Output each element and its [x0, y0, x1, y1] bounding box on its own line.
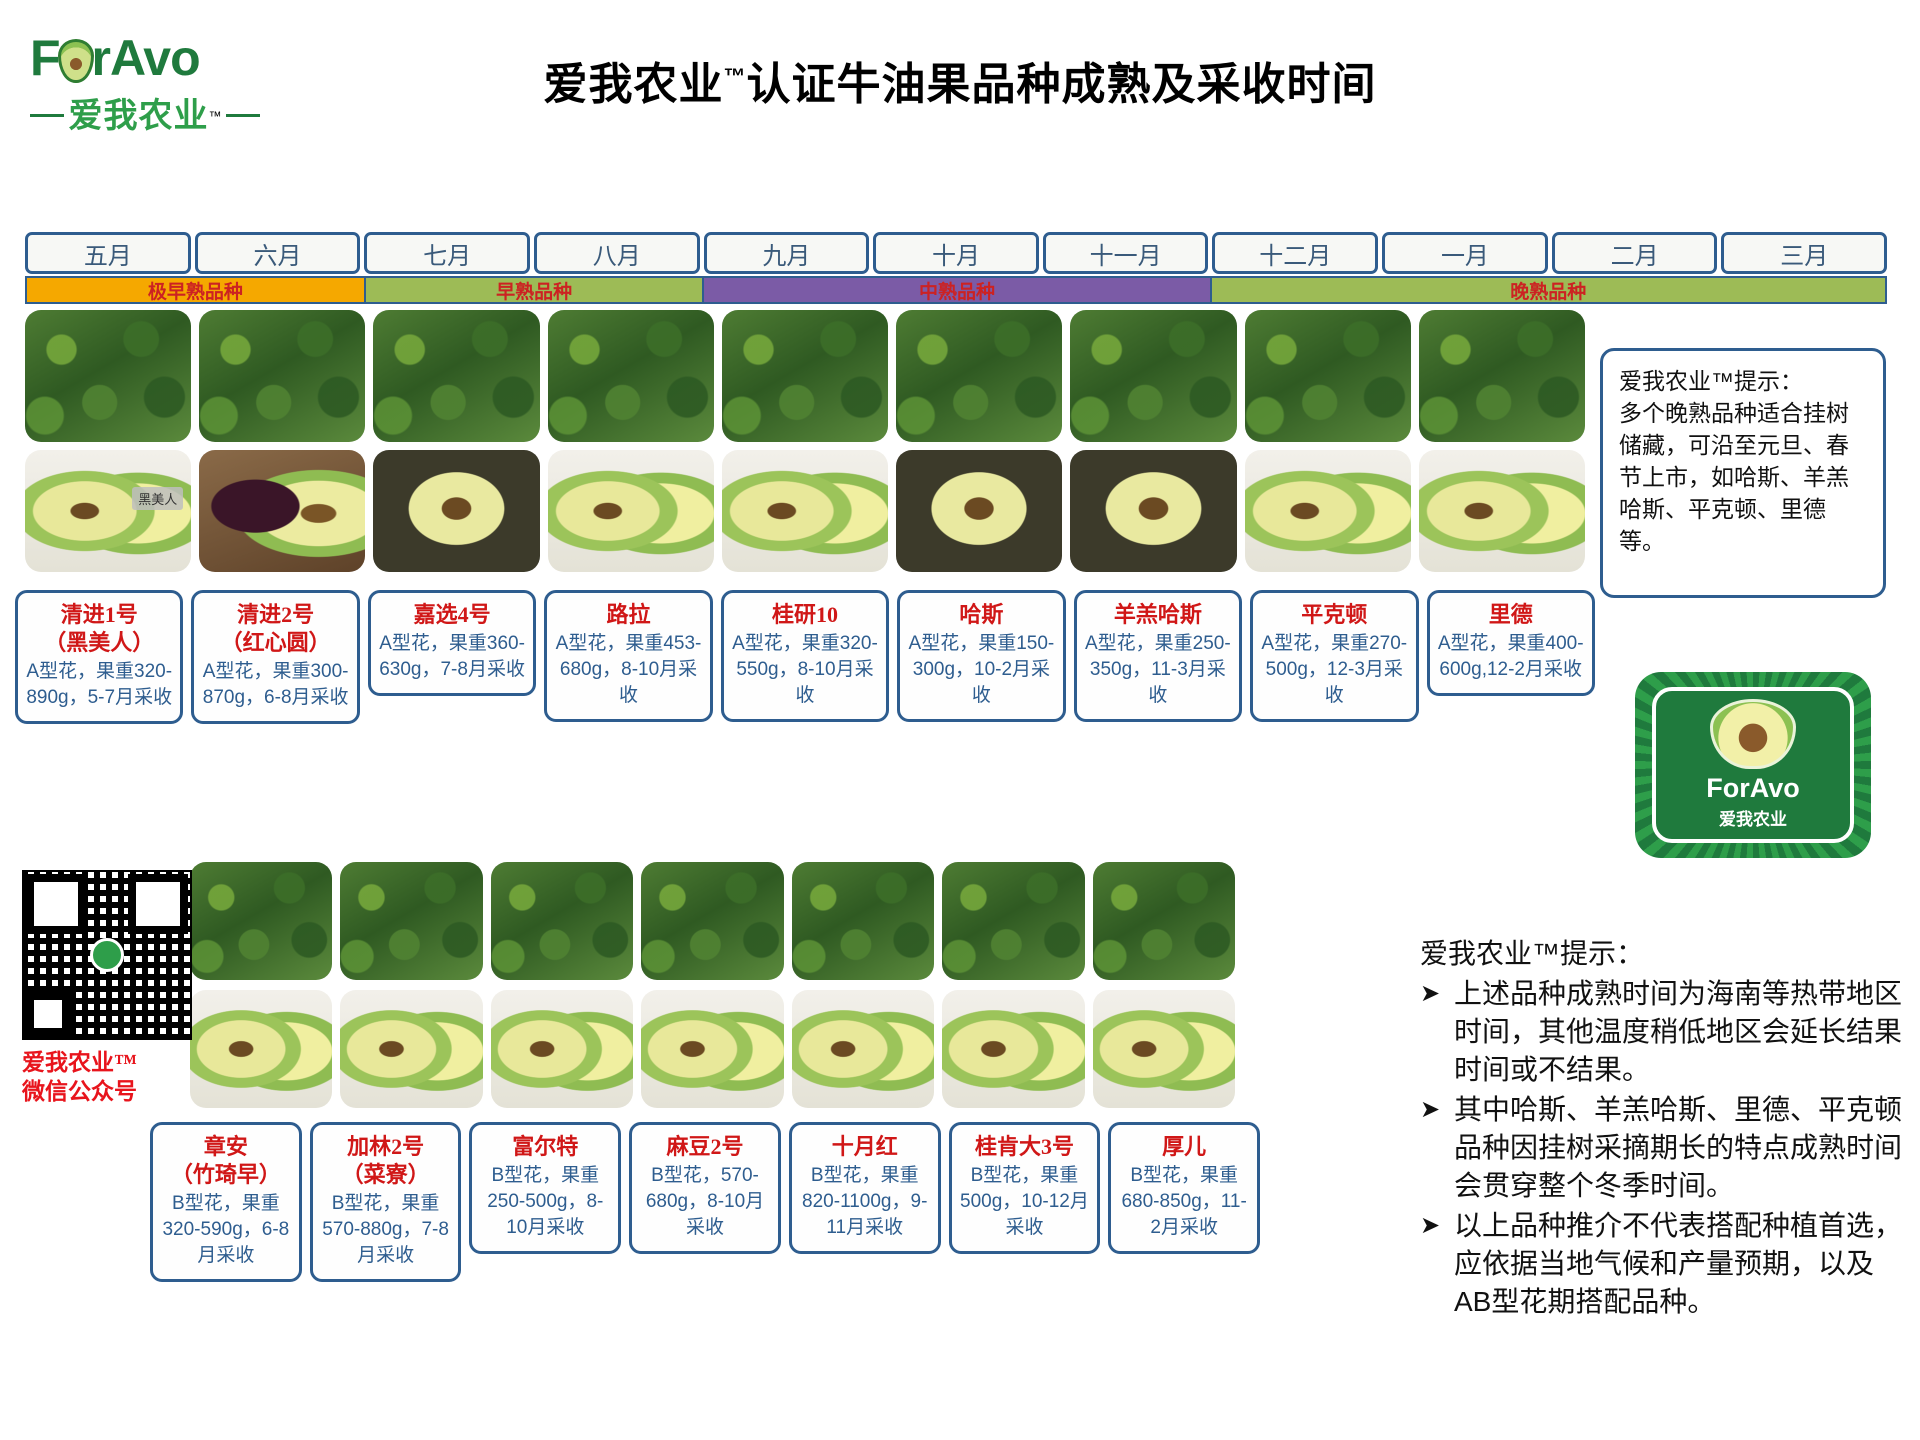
page-title-part2: 认证牛油果品种成熟及采收时间: [747, 60, 1377, 109]
variety-card[interactable]: 十月红B型花，果重820-1100g，9-11月采收: [789, 1122, 941, 1254]
avocado-icon: [1710, 699, 1796, 769]
variety-card[interactable]: 章安（竹琦早）B型花，果重320-590g，6-8月采收: [150, 1122, 302, 1282]
tips-bottom: 爱我农业™提示： 上述品种成熟时间为海南等热带地区时间，其他温度稍低地区会延长结…: [1420, 935, 1910, 1323]
seal-outer-ring: ForAvo 爱我农业: [1635, 672, 1871, 858]
variety-card-title: 路拉: [553, 601, 703, 629]
variety-card[interactable]: 哈斯A型花，果重150-300g，10-2月采收: [897, 590, 1065, 722]
variety-card[interactable]: 桂肯大3号B型花，果重500g，10-12月采收: [949, 1122, 1101, 1254]
maturity-band-2: 早熟品种: [366, 278, 705, 302]
variety-card[interactable]: 加林2号（菜寮）B型花，果重570-880g，7-8月采收: [310, 1122, 462, 1282]
maturity-band-4: 晚熟品种: [1212, 278, 1885, 302]
fruit-photo-qingjin1: 黑美人: [25, 450, 191, 572]
variety-card-title: 桂研10: [730, 601, 880, 629]
tree-photo-guikenda3: [942, 862, 1084, 980]
fruit-photo-madou2: [641, 990, 783, 1108]
variety-card-body: B型花，果重250-500g，8-10月采收: [478, 1163, 612, 1241]
variety-card-title: 加林2号: [319, 1133, 453, 1161]
row2-variety-cards: 章安（竹琦早）B型花，果重320-590g，6-8月采收加林2号（菜寮）B型花，…: [150, 1122, 1260, 1282]
variety-card-subtitle: （菜寮）: [319, 1161, 453, 1189]
tree-photo-yanggaihass: [1070, 310, 1236, 442]
variety-card-subtitle: （竹琦早）: [159, 1161, 293, 1189]
month-cell-1: 五月: [25, 232, 191, 274]
tree-photo-shiyuehong: [792, 862, 934, 980]
tree-photo-fuerte: [491, 862, 633, 980]
variety-card-title: 清进1号: [24, 601, 174, 629]
tree-photo-houer: [1093, 862, 1235, 980]
variety-card-body: A型花，果重300-870g，6-8月采收: [200, 659, 350, 711]
wechat-qr-block: 爱我农业™ 微信公众号: [22, 870, 204, 1106]
variety-card[interactable]: 路拉A型花，果重453-680g，8-10月采收: [544, 590, 712, 722]
variety-card-subtitle: （红心圆）: [200, 629, 350, 657]
variety-card-body: B型花，果重500g，10-12月采收: [958, 1163, 1092, 1241]
tree-photo-lula: [548, 310, 714, 442]
qr-code-icon[interactable]: [22, 870, 192, 1040]
month-cell-4: 八月: [534, 232, 700, 274]
seal-wordmark: ForAvo: [1706, 773, 1800, 804]
month-header-row: 五月六月七月八月九月十月十一月十二月一月二月三月: [25, 232, 1887, 274]
page-header: FrAvo 爱我农业™ 爱我农业™认证牛油果品种成熟及采收时间: [0, 0, 1920, 165]
qr-label-line1: 爱我农业™: [22, 1048, 204, 1077]
fruit-photo-pinkerton: [1245, 450, 1411, 572]
month-cell-5: 九月: [704, 232, 870, 274]
variety-card[interactable]: 桂研10A型花，果重320-550g，8-10月采收: [721, 590, 889, 722]
variety-card-title: 十月红: [798, 1133, 932, 1161]
variety-card-title: 清进2号: [200, 601, 350, 629]
variety-card-body: A型花，果重360-630g，7-8月采收: [377, 631, 527, 683]
month-cell-8: 十二月: [1212, 232, 1378, 274]
variety-card-body: A型花，果重150-300g，10-2月采收: [906, 631, 1056, 709]
month-cell-7: 十一月: [1043, 232, 1209, 274]
maturity-band-1: 极早熟品种: [27, 278, 366, 302]
month-cell-3: 七月: [364, 232, 530, 274]
tips-bottom-item: 以上品种推介不代表搭配种植首选，应依据当地气候和产量预期，以及AB型花期搭配品种…: [1420, 1207, 1910, 1321]
tip-box-top-text: 多个晚熟品种适合挂树储藏，可沿至元旦、春节上市，如哈斯、羊羔哈斯、平克顿、里德等…: [1619, 397, 1869, 557]
row2-tree-photos: [190, 862, 1235, 980]
variety-card[interactable]: 平克顿A型花，果重270-500g，12-3月采收: [1250, 590, 1418, 722]
tree-photo-madou2: [641, 862, 783, 980]
variety-card-title: 嘉选4号: [377, 601, 527, 629]
variety-card-body: B型花，果重570-880g，7-8月采收: [319, 1191, 453, 1269]
variety-card[interactable]: 厚儿B型花，果重680-850g，11-2月采收: [1108, 1122, 1260, 1254]
variety-card-body: B型花，果重820-1100g，9-11月采收: [798, 1163, 932, 1241]
tree-photo-reed: [1419, 310, 1585, 442]
month-cell-2: 六月: [195, 232, 361, 274]
variety-card-body: B型花，570-680g，8-10月采收: [638, 1163, 772, 1241]
fruit-photo-zhangan: [190, 990, 332, 1108]
row1-tree-photos: [25, 310, 1585, 442]
variety-card[interactable]: 富尔特B型花，果重250-500g，8-10月采收: [469, 1122, 621, 1254]
fruit-photo-guiyan10: [722, 450, 888, 572]
variety-card-title: 章安: [159, 1133, 293, 1161]
variety-card[interactable]: 羊羔哈斯A型花，果重250-350g，11-3月采收: [1074, 590, 1242, 722]
fruit-photo-reed: [1419, 450, 1585, 572]
logo-rule-left: [30, 114, 64, 117]
variety-card-title: 羊羔哈斯: [1083, 601, 1233, 629]
variety-card-subtitle: （黑美人）: [24, 629, 174, 657]
variety-card-body: B型花，果重680-850g，11-2月采收: [1117, 1163, 1251, 1241]
variety-card-body: A型花，果重453-680g，8-10月采收: [553, 631, 703, 709]
variety-card[interactable]: 清进2号（红心圆）A型花，果重300-870g，6-8月采收: [191, 590, 359, 724]
tree-photo-qingjin1: [25, 310, 191, 442]
variety-card-body: B型花，果重320-590g，6-8月采收: [159, 1191, 293, 1269]
variety-card[interactable]: 麻豆2号B型花，570-680g，8-10月采收: [629, 1122, 781, 1254]
qr-label-line2: 微信公众号: [22, 1077, 204, 1106]
variety-card[interactable]: 嘉选4号A型花，果重360-630g，7-8月采收: [368, 590, 536, 696]
variety-card-title: 厚儿: [1117, 1133, 1251, 1161]
fruit-photo-lula: [548, 450, 714, 572]
fruit-photo-fuerte: [491, 990, 633, 1108]
fruit-photo-shiyuehong: [792, 990, 934, 1108]
variety-card-body: A型花，果重320-550g，8-10月采收: [730, 631, 880, 709]
tree-photo-pinkerton: [1245, 310, 1411, 442]
variety-card-body: A型花，果重320-890g，5-7月采收: [24, 659, 174, 711]
seal-chinese: 爱我农业: [1719, 805, 1787, 830]
variety-card-title: 桂肯大3号: [958, 1133, 1092, 1161]
brand-seal: ForAvo 爱我农业: [1635, 672, 1871, 858]
month-cell-6: 十月: [873, 232, 1039, 274]
fruit-photo-guikenda3: [942, 990, 1084, 1108]
tree-photo-guiyan10: [722, 310, 888, 442]
fruit-photo-hass: [896, 450, 1062, 572]
tip-box-top-heading: 爱我农业™提示：: [1619, 365, 1869, 397]
logo-rule-right: [226, 114, 260, 117]
fruit-photo-yanggaihass: [1070, 450, 1236, 572]
seal-inner: ForAvo 爱我农业: [1652, 687, 1855, 843]
fruit-photo-jialin2: [340, 990, 482, 1108]
tree-photo-jialin2: [340, 862, 482, 980]
row1-variety-cards: 清进1号（黑美人）A型花，果重320-890g，5-7月采收清进2号（红心圆）A…: [15, 590, 1595, 724]
row1-fruit-photos: 黑美人: [25, 450, 1585, 572]
row2-fruit-photos: [190, 990, 1235, 1108]
variety-card-body: A型花，果重270-500g，12-3月采收: [1259, 631, 1409, 709]
variety-card[interactable]: 清进1号（黑美人）A型花，果重320-890g，5-7月采收: [15, 590, 183, 724]
fruit-photo-houer: [1093, 990, 1235, 1108]
variety-card-body: A型花，果重250-350g，11-3月采收: [1083, 631, 1233, 709]
variety-card-title: 里德: [1436, 601, 1586, 629]
maturity-band-row: 极早熟品种早熟品种中熟品种晚熟品种: [25, 276, 1887, 304]
fruit-photo-jiaxuan4: [373, 450, 539, 572]
tips-bottom-list: 上述品种成熟时间为海南等热带地区时间，其他温度稍低地区会延长结果时间或不结果。其…: [1420, 975, 1910, 1321]
variety-card-body: A型花，果重400-600g,12-2月采收: [1436, 631, 1586, 683]
tree-photo-hass: [896, 310, 1062, 442]
variety-card-title: 麻豆2号: [638, 1133, 772, 1161]
tips-bottom-item: 上述品种成熟时间为海南等热带地区时间，其他温度稍低地区会延长结果时间或不结果。: [1420, 975, 1910, 1089]
tips-bottom-item: 其中哈斯、羊羔哈斯、里德、平克顿品种因挂树采摘期长的特点成熟时间会贯穿整个冬季时…: [1420, 1091, 1910, 1205]
photo-tag: 黑美人: [132, 487, 183, 510]
tree-photo-zhangan: [190, 862, 332, 980]
month-cell-11: 三月: [1721, 232, 1887, 274]
variety-card-title: 平克顿: [1259, 601, 1409, 629]
month-cell-10: 二月: [1552, 232, 1718, 274]
variety-card-title: 哈斯: [906, 601, 1056, 629]
page-title-part1: 爱我农业: [544, 60, 724, 109]
variety-card[interactable]: 里德A型花，果重400-600g,12-2月采收: [1427, 590, 1595, 696]
fruit-photo-qingjin2: [199, 450, 365, 572]
tip-box-top: 爱我农业™提示： 多个晚熟品种适合挂树储藏，可沿至元旦、春节上市，如哈斯、羊羔哈…: [1600, 348, 1886, 598]
page-title: 爱我农业™认证牛油果品种成熟及采收时间: [0, 48, 1920, 112]
tree-photo-jiaxuan4: [373, 310, 539, 442]
qr-label: 爱我农业™ 微信公众号: [22, 1048, 204, 1106]
variety-card-title: 富尔特: [478, 1133, 612, 1161]
page-title-tm: ™: [724, 63, 747, 88]
tips-bottom-heading: 爱我农业™提示：: [1420, 935, 1910, 973]
maturity-band-3: 中熟品种: [704, 278, 1211, 302]
tree-photo-qingjin2: [199, 310, 365, 442]
month-cell-9: 一月: [1382, 232, 1548, 274]
